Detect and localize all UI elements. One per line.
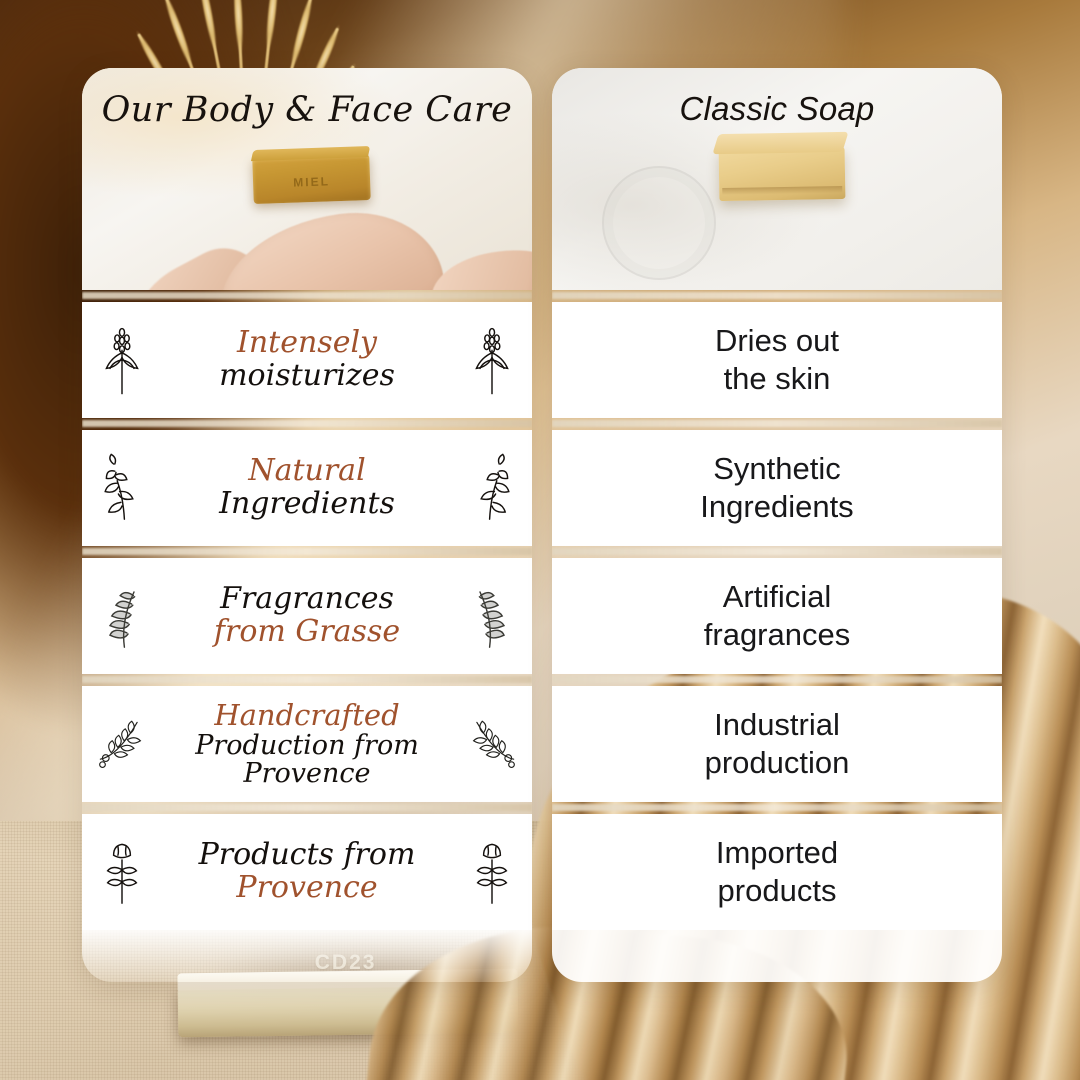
right-card-footer — [552, 930, 1002, 982]
row-divider — [552, 290, 1002, 302]
row-divider — [82, 802, 532, 814]
card-classic-soap: Classic Soap Dries out the skin Syntheti… — [552, 68, 1002, 982]
pro-row-5-text: Products from Provence — [160, 840, 454, 903]
con-row-3-text: Artificial fragrances — [704, 578, 850, 654]
pro-row-3-line2: from Grasse — [160, 617, 454, 648]
right-card-title: Classic Soap — [552, 90, 1002, 128]
row-divider — [552, 418, 1002, 430]
pro-row-4-line1: Handcrafted — [160, 701, 454, 731]
pro-row-intensely-moisturizes: Intensely moisturizes — [82, 302, 532, 418]
tulip-flower-icon — [466, 836, 518, 908]
pro-row-4-text: Handcrafted Production from Provence — [160, 701, 454, 788]
pro-row-handcrafted-production: Handcrafted Production from Provence — [82, 686, 532, 802]
miel-soap-bar-icon: MIEL — [252, 154, 371, 204]
con-row-synthetic-ingredients: Synthetic Ingredients — [552, 430, 1002, 546]
tulip-flower-icon — [96, 836, 148, 908]
con-row-industrial-production: Industrial production — [552, 686, 1002, 802]
lavender-sprig-icon — [96, 324, 148, 396]
con-row-1-text: Dries out the skin — [715, 322, 839, 398]
pro-row-products-from-provence: Products from Provence — [82, 814, 532, 930]
pro-row-2-line2: Ingredients — [160, 489, 454, 520]
laurel-wreath-branch-icon — [96, 708, 148, 780]
miel-soap-label: MIEL — [253, 173, 370, 191]
pro-row-natural-ingredients: Natural Ingredients — [82, 430, 532, 546]
con-row-artificial-fragrances: Artificial fragrances — [552, 558, 1002, 674]
row-divider — [82, 290, 532, 302]
comparison-stage: MIEL Our Body & Face Care — [0, 0, 1080, 1080]
embossed-emblem-icon — [602, 166, 716, 280]
pro-row-5-line1: Products from — [160, 840, 454, 871]
con-row-4-line1: Industrial — [705, 706, 850, 744]
olive-leaf-branch-icon — [96, 580, 148, 652]
con-row-2-line1: Synthetic — [700, 450, 853, 488]
row-divider — [82, 546, 532, 558]
con-row-1-line1: Dries out — [715, 322, 839, 360]
pro-row-1-line2: moisturizes — [160, 361, 454, 392]
pro-row-1-line1: Intensely — [160, 328, 454, 359]
row-divider — [552, 674, 1002, 686]
pro-row-3-text: Fragrances from Grasse — [160, 584, 454, 647]
con-row-4-line2: production — [705, 744, 850, 782]
con-row-3-line1: Artificial — [704, 578, 850, 616]
eucalyptus-branch-icon — [466, 452, 518, 524]
con-row-dries-out-the-skin: Dries out the skin — [552, 302, 1002, 418]
pro-row-3-line1: Fragrances — [160, 584, 454, 615]
row-divider — [82, 674, 532, 686]
pro-row-2-text: Natural Ingredients — [160, 456, 454, 519]
con-row-2-text: Synthetic Ingredients — [700, 450, 853, 526]
laurel-wreath-branch-icon — [466, 708, 518, 780]
card-our-body-and-face-care: MIEL Our Body & Face Care — [82, 68, 532, 982]
eucalyptus-branch-icon — [96, 452, 148, 524]
con-row-imported-products: Imported products — [552, 814, 1002, 930]
right-card-hero: Classic Soap — [552, 68, 1002, 290]
con-row-3-line2: fragrances — [704, 616, 850, 654]
olive-leaf-branch-icon — [466, 580, 518, 652]
lavender-sprig-icon — [466, 324, 518, 396]
row-divider — [552, 546, 1002, 558]
classic-soap-bar-icon — [718, 147, 845, 201]
con-row-5-text: Imported products — [716, 834, 838, 910]
left-card-hero: MIEL Our Body & Face Care — [82, 68, 532, 290]
con-row-1-line2: the skin — [715, 360, 839, 398]
pro-row-5-line2: Provence — [160, 873, 454, 904]
con-row-5-line1: Imported — [716, 834, 838, 872]
row-divider — [82, 418, 532, 430]
con-row-5-line2: products — [716, 872, 838, 910]
pro-row-2-line1: Natural — [160, 456, 454, 487]
pro-row-fragrances-from-grasse: Fragrances from Grasse — [82, 558, 532, 674]
con-row-4-text: Industrial production — [705, 706, 850, 782]
con-row-2-line2: Ingredients — [700, 488, 853, 526]
left-card-footer — [82, 930, 532, 982]
pro-row-1-text: Intensely moisturizes — [160, 328, 454, 391]
row-divider — [552, 802, 1002, 814]
left-card-title: Our Body & Face Care — [82, 90, 532, 130]
pro-row-4-line2: Production from Provence — [160, 732, 454, 787]
